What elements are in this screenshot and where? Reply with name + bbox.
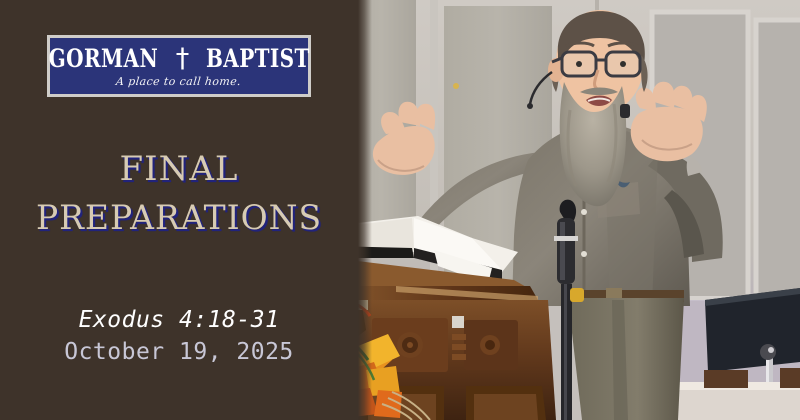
logo-tagline: A place to call home. bbox=[116, 75, 242, 88]
scripture-reference: Exodus 4:18-31 bbox=[0, 305, 358, 336]
sermon-title-line-2: Preparations bbox=[5, 189, 352, 238]
sermon-meta: Exodus 4:18-31 October 19, 2025 bbox=[0, 305, 358, 369]
sermon-title-slide: GORMAN † BAPTIST A place to call home. F… bbox=[0, 0, 800, 420]
logo-word-gorman: GORMAN bbox=[49, 46, 158, 71]
sermon-title: Final Preparations bbox=[0, 140, 358, 239]
logo-word-baptist: BAPTIST bbox=[206, 46, 310, 71]
sermon-date: October 19, 2025 bbox=[0, 336, 358, 369]
cross-icon: † bbox=[176, 45, 190, 72]
sermon-title-line-1: Final bbox=[0, 140, 358, 189]
sermon-photo bbox=[352, 0, 800, 420]
title-panel: GORMAN † BAPTIST A place to call home. F… bbox=[0, 0, 358, 420]
church-logo: GORMAN † BAPTIST A place to call home. bbox=[47, 35, 311, 97]
logo-wordmark: GORMAN † BAPTIST bbox=[35, 45, 323, 72]
